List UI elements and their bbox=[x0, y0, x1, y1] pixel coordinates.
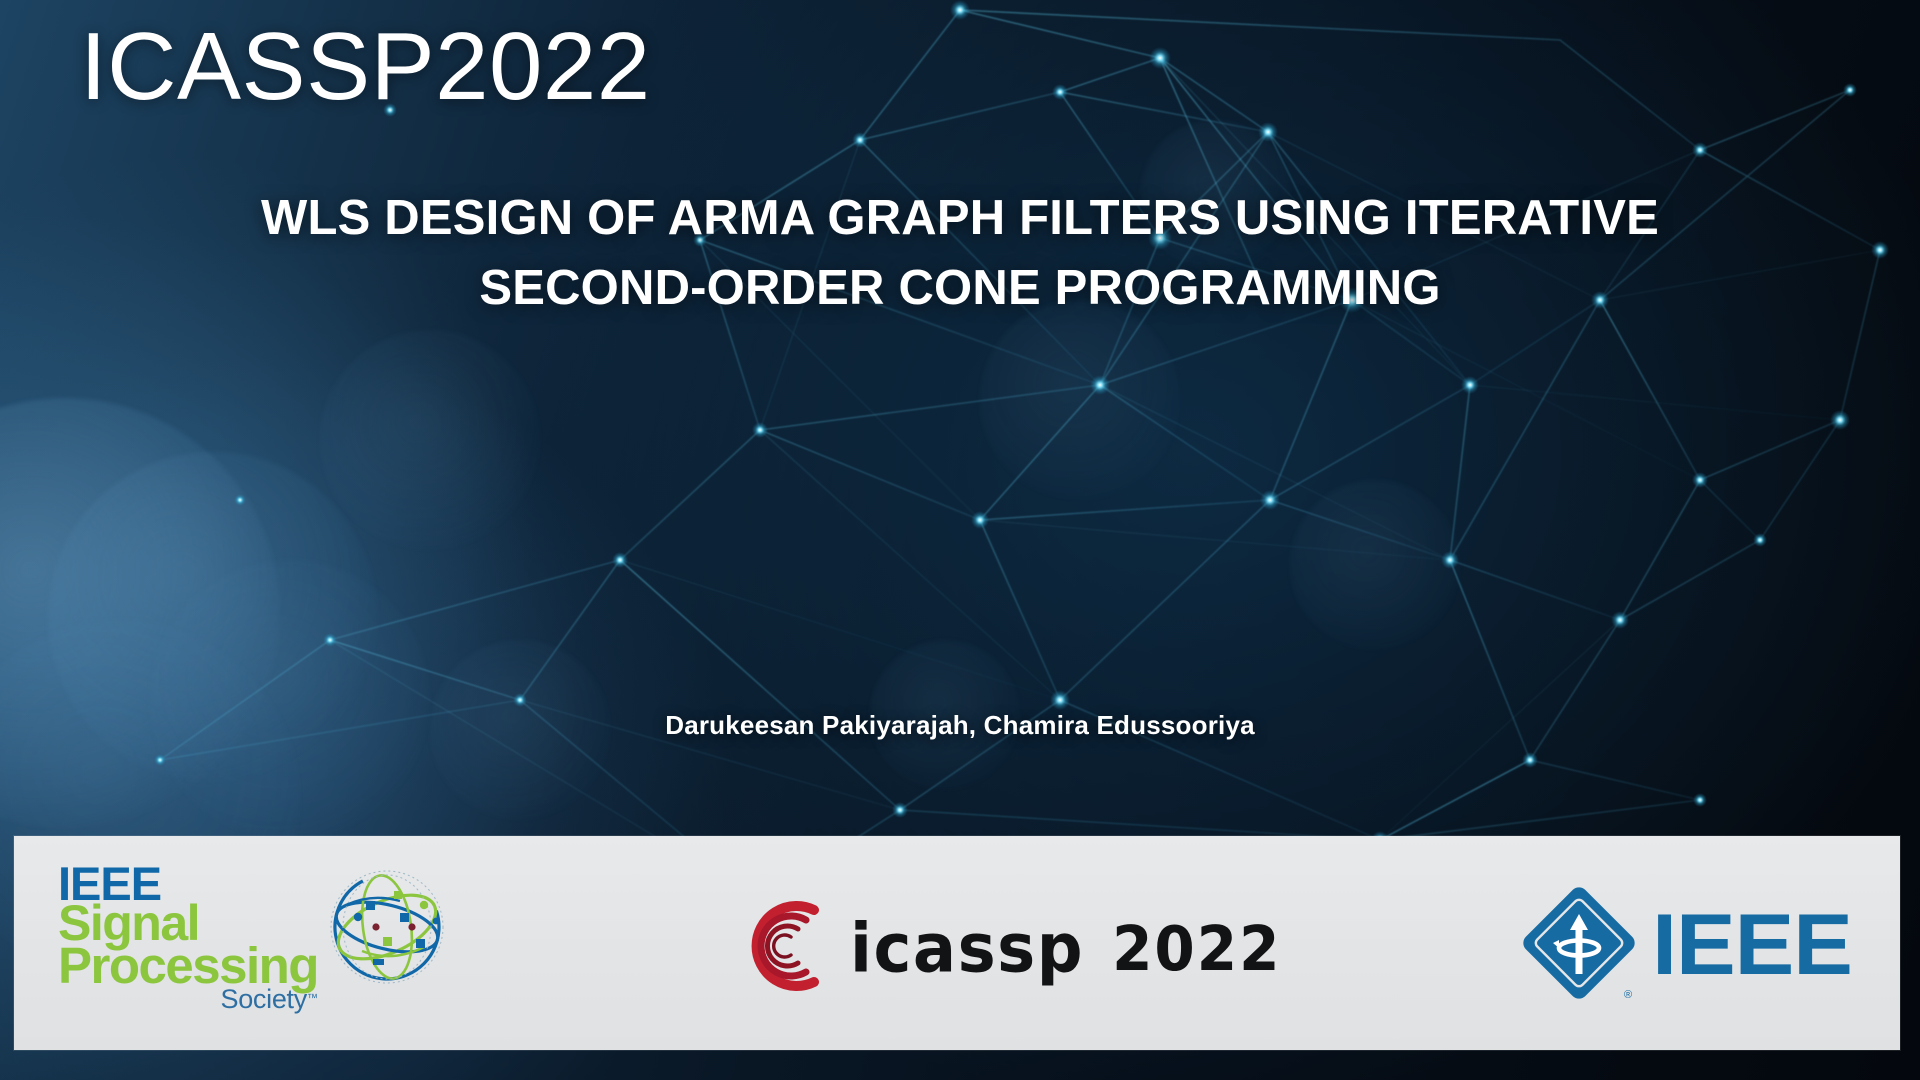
ieee-wordmark: IEEE bbox=[1652, 896, 1852, 995]
footer-logo-band: IEEE Signal Processing Society™ bbox=[14, 836, 1900, 1050]
icassp-arcs-icon bbox=[740, 898, 836, 999]
sps-processing-text: Processing bbox=[58, 945, 318, 987]
paper-title-line-1: WLS DESIGN OF ARMA GRAPH FILTERS USING I… bbox=[60, 184, 1860, 254]
ieee-logo: ® IEEE bbox=[1520, 884, 1848, 1007]
sps-society-text: Society bbox=[221, 984, 307, 1014]
icassp-wordmark: icassp bbox=[850, 909, 1084, 987]
sps-society-row: Society™ bbox=[58, 988, 318, 1010]
icassp-logo: icassp 2022 bbox=[740, 898, 1282, 999]
ieee-registered-mark: ® bbox=[1624, 989, 1632, 1001]
sps-globe-icon bbox=[312, 855, 462, 1010]
author-list: Darukeesan Pakiyarajah, Chamira Edussoor… bbox=[60, 710, 1860, 741]
presentation-slide: ICASSP2022 WLS DESIGN OF ARMA GRAPH FILT… bbox=[0, 0, 1920, 1080]
page-title: WLS DESIGN OF ARMA GRAPH FILTERS USING I… bbox=[60, 184, 1860, 323]
ieee-diamond-icon: ® bbox=[1520, 884, 1638, 1007]
icassp-year: 2022 bbox=[1112, 912, 1281, 984]
conference-name: ICASSP2022 bbox=[80, 17, 651, 118]
paper-title-line-2: SECOND-ORDER CONE PROGRAMMING bbox=[60, 254, 1860, 324]
sps-wordmark: IEEE Signal Processing Society™ bbox=[58, 864, 318, 1010]
ieee-sps-logo: IEEE Signal Processing Society™ bbox=[58, 864, 462, 1010]
